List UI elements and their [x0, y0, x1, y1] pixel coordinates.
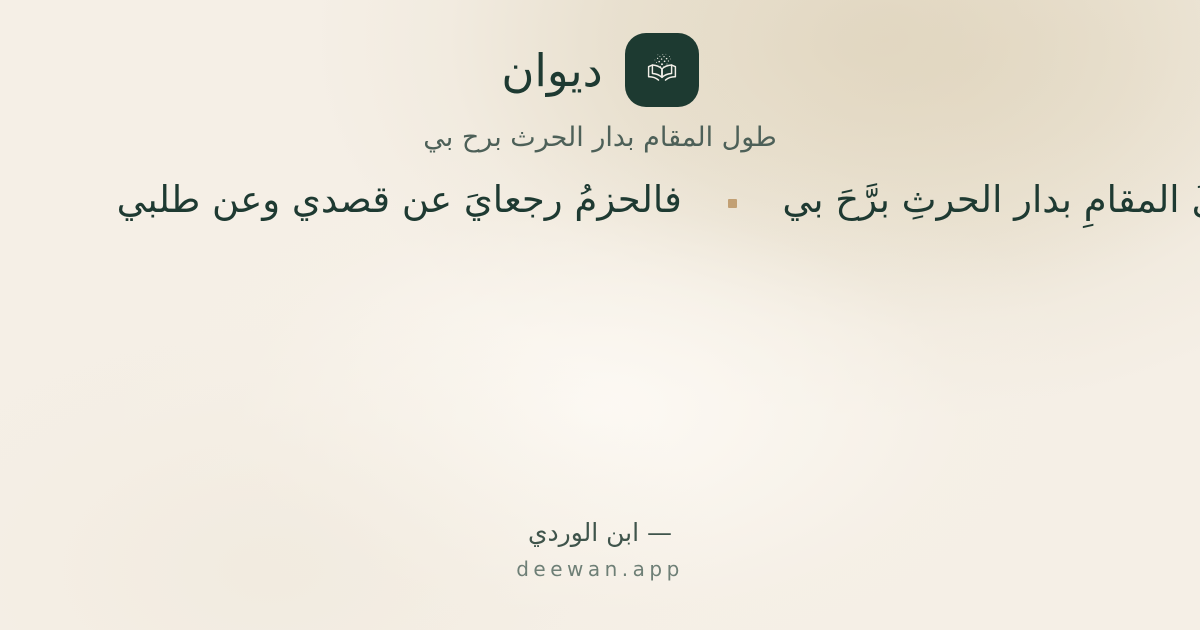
brand-name: ديوان: [501, 48, 602, 93]
diamond-dot-separator: [728, 199, 737, 208]
share-card: ديوان طول المقام بدار الحرث برح بي يطولُ…: [0, 0, 1200, 630]
app-logo: [625, 33, 699, 107]
card-footer: — ابن الوردي deewan.app: [0, 516, 1200, 582]
poem-author: — ابن الوردي: [0, 516, 1200, 550]
open-book-with-sparkles-icon: [640, 48, 684, 92]
site-url: deewan.app: [0, 556, 1200, 582]
brand-header: ديوان: [0, 33, 1200, 107]
hemistich-second: فالحزمُ رجعايَ عن قصدي وعن طلبي: [117, 168, 682, 232]
verse-container: يطولُ المقامِ بدار الحرثِ برَّحَ بي فالح…: [0, 168, 1200, 232]
poem-title: طول المقام بدار الحرث برح بي: [0, 119, 1200, 157]
hemistich-first: يطولُ المقامِ بدار الحرثِ برَّحَ بي: [782, 168, 1200, 232]
verse-line: يطولُ المقامِ بدار الحرثِ برَّحَ بي فالح…: [117, 168, 1200, 232]
